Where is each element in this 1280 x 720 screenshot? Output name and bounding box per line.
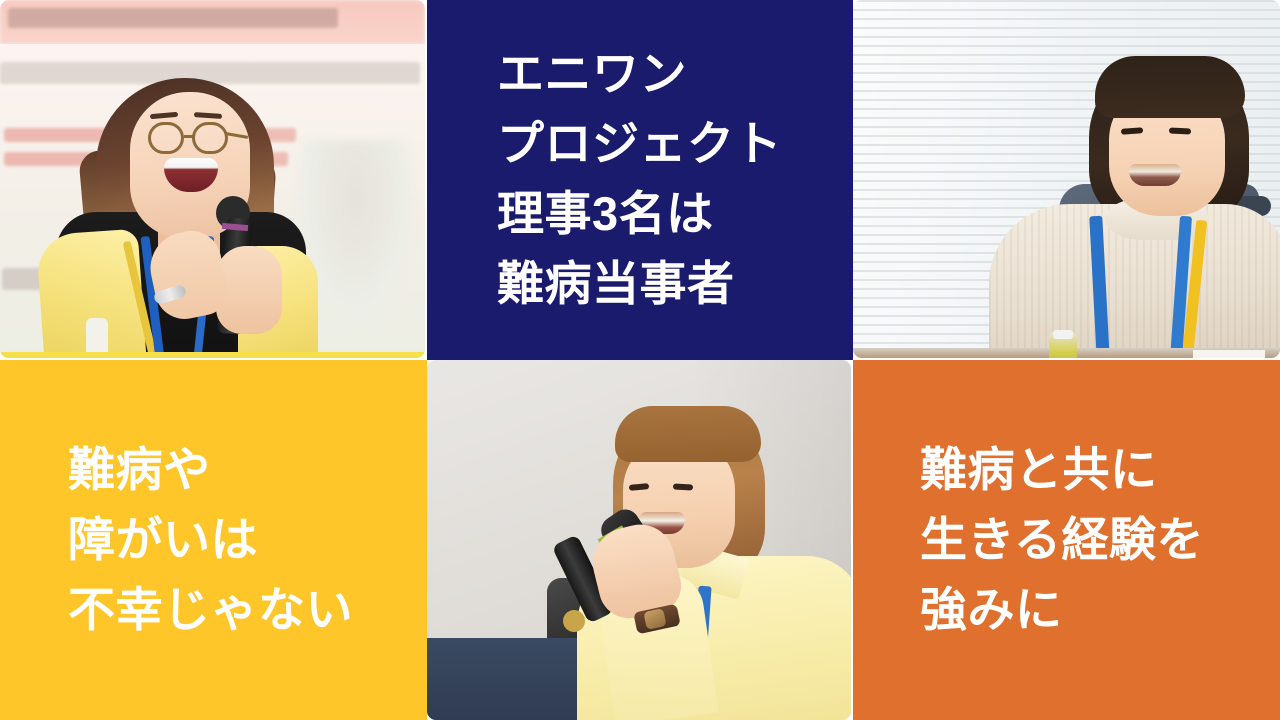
office-chair (1059, 184, 1259, 358)
chair-armrest (1193, 196, 1271, 216)
projection-pink-band (0, 0, 425, 44)
open-smiling-mouth (164, 158, 218, 192)
projected-text-line (4, 152, 130, 166)
flower-decoration (190, 326, 220, 356)
glasses-temple (226, 132, 248, 139)
cell-bottom-right: 難病と共に 生きる経験を 強みに (853, 360, 1280, 720)
polo-collar-right (678, 542, 749, 599)
ponytail (695, 491, 759, 594)
desk-edge (853, 348, 1280, 358)
lanyard-blue (1089, 216, 1110, 358)
hair-fringe (615, 406, 761, 462)
yellow-polo-shirt (577, 556, 851, 720)
neck (645, 556, 705, 592)
lanyard-blue (691, 586, 711, 691)
polo-collar-left (622, 546, 690, 602)
navy-tile-line-1: エニワン (497, 39, 851, 109)
smiling-mouth (1129, 164, 1181, 186)
hair-left (78, 148, 138, 292)
speaking-mouth (639, 512, 685, 534)
yellow-floor-strip (0, 352, 425, 358)
arm-band (86, 318, 108, 358)
hair-fringe (1095, 56, 1245, 118)
yellow-sleeve-left (36, 229, 147, 358)
photo-text-collage-grid: エニワン プロジェクト 理事3名は 難病当事者 (0, 0, 1280, 720)
photo-image-speaker-glasses (0, 0, 425, 358)
raised-arm (595, 569, 718, 720)
projected-text-line (214, 128, 296, 142)
drink-bottle (1049, 332, 1077, 358)
photo-tile-speaker-polo (427, 360, 851, 720)
projected-text-line (0, 62, 420, 84)
eye-left (629, 483, 649, 491)
microphone-body (552, 534, 615, 624)
hair-right (211, 150, 277, 304)
cell-top-left (0, 0, 427, 360)
hand-holding-microphone (585, 517, 686, 624)
eyebrow-left (150, 112, 178, 119)
yellow-tile-body: 難病や 障がいは 不幸じゃない (0, 360, 425, 720)
eye-right (673, 483, 693, 490)
black-top (56, 212, 306, 358)
orange-tile-line-2: 生きる経験を (920, 505, 1280, 575)
wrist-watch-band (633, 604, 681, 635)
projected-text-line (2, 268, 62, 290)
projected-text-line (4, 128, 144, 142)
microphone-head (596, 504, 650, 558)
face (130, 92, 250, 238)
microphone-ring (598, 525, 625, 543)
hand-holding-microphone (216, 246, 282, 334)
sweater-collar (1105, 198, 1209, 240)
glasses-lens-right (192, 122, 228, 154)
navy-tile-body: エニワン プロジェクト 理事3名は 難病当事者 (427, 0, 851, 358)
orange-text-tile: 難病と共に 生きる経験を 強みに (853, 360, 1280, 720)
glasses-bridge (184, 135, 194, 138)
yellow-tile-line-2: 障がいは (68, 505, 425, 575)
microphone-ring (222, 223, 248, 231)
face (1109, 84, 1225, 216)
lectern (170, 330, 282, 358)
eye-right (1169, 127, 1191, 134)
yellow-tile-line-1: 難病や (68, 435, 425, 505)
hair (613, 408, 765, 584)
navy-tile-line-2: プロジェクト (497, 109, 851, 179)
cell-top-center: エニワン プロジェクト 理事3名は 難病当事者 (427, 0, 853, 360)
photo-image-woman-sweater (853, 0, 1280, 358)
orange-tile-line-1: 難病と共に (920, 435, 1280, 505)
projected-text-line (220, 152, 288, 166)
projected-text-line (258, 266, 304, 288)
lanyard-blue-second (1170, 216, 1192, 358)
eyebrow-right (194, 112, 222, 119)
hair (96, 78, 274, 302)
cell-top-right (853, 0, 1280, 360)
hand-on-chest (144, 225, 232, 324)
wrist-watch-face (643, 608, 666, 630)
microphone-base-cap (559, 606, 588, 635)
photo-tile-speaker-glasses (0, 0, 425, 358)
microphone-body (217, 217, 253, 335)
navy-tile-line-4: 難病当事者 (497, 249, 851, 319)
photo-tile-woman-sweater (853, 0, 1280, 358)
cream-knit-sweater (989, 204, 1280, 358)
projected-text-line (8, 8, 338, 28)
wall-shadow (691, 360, 851, 720)
hair (1089, 58, 1249, 226)
neck (1129, 200, 1191, 236)
lanyard-blue-second (194, 236, 214, 356)
yellow-text-tile: 難病や 障がいは 不幸じゃない (0, 360, 425, 720)
cell-bottom-left: 難病や 障がいは 不幸じゃない (0, 360, 427, 720)
lanyard-yellow (1182, 220, 1208, 358)
bracelet (153, 284, 187, 305)
glasses-lens-left (148, 122, 184, 154)
projected-portrait (295, 140, 415, 330)
photo-image-speaker-polo (427, 360, 851, 720)
cell-bottom-center (427, 360, 853, 720)
polo-placket (639, 582, 649, 668)
navy-podium (427, 638, 639, 720)
yellow-tile-line-3: 不幸じゃない (68, 575, 425, 645)
orange-tile-line-3: 強みに (920, 575, 1280, 645)
eye-left (1121, 127, 1143, 135)
bottle-cap (1053, 330, 1073, 339)
microphone-head (216, 196, 250, 230)
projection-screen (0, 44, 425, 358)
lanyard-blue (140, 236, 164, 358)
face (623, 436, 735, 568)
orange-tile-body: 難病と共に 生きる経験を 強みに (853, 360, 1280, 720)
navy-tile-line-3: 理事3名は (497, 179, 851, 249)
lanyard-yellow (123, 241, 158, 358)
navy-text-tile: エニワン プロジェクト 理事3名は 難病当事者 (427, 0, 851, 358)
stage-speaker (547, 578, 619, 670)
paper-on-desk (1193, 350, 1265, 358)
neck (158, 226, 220, 272)
yellow-sleeve-right (238, 246, 318, 358)
